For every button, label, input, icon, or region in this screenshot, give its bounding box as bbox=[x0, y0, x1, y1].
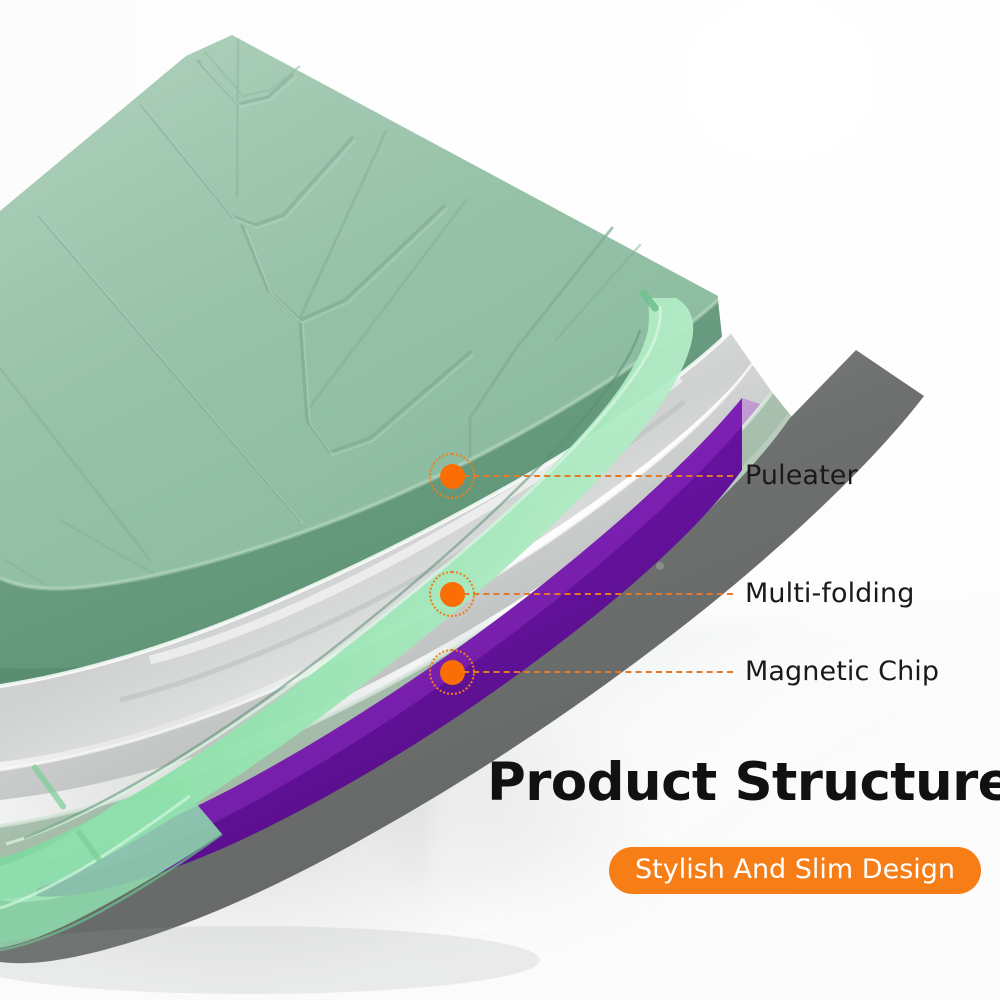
callout-marker-core bbox=[440, 660, 465, 685]
callout-label-magnetic-chip: Magnetic Chip bbox=[745, 658, 939, 685]
callout-leader-line bbox=[463, 475, 733, 477]
tagline-badge: Stylish And Slim Design bbox=[609, 847, 981, 894]
callout-label-puleater: Puleater bbox=[745, 462, 858, 489]
front-camera-dot bbox=[656, 562, 664, 570]
product-structure-infographic: Puleater Multi-folding Magnetic Chip Pro… bbox=[0, 0, 1000, 1000]
callout-leader-line bbox=[463, 593, 733, 595]
callout-label-multi-folding: Multi-folding bbox=[745, 580, 914, 607]
contact-shadow bbox=[0, 926, 540, 994]
callout-marker-core bbox=[440, 582, 465, 607]
page-title: Product Structure bbox=[487, 755, 987, 811]
headline-block: Product Structure Stylish And Slim Desig… bbox=[487, 755, 987, 811]
callout-marker-core bbox=[440, 464, 465, 489]
callout-leader-line bbox=[463, 671, 733, 673]
